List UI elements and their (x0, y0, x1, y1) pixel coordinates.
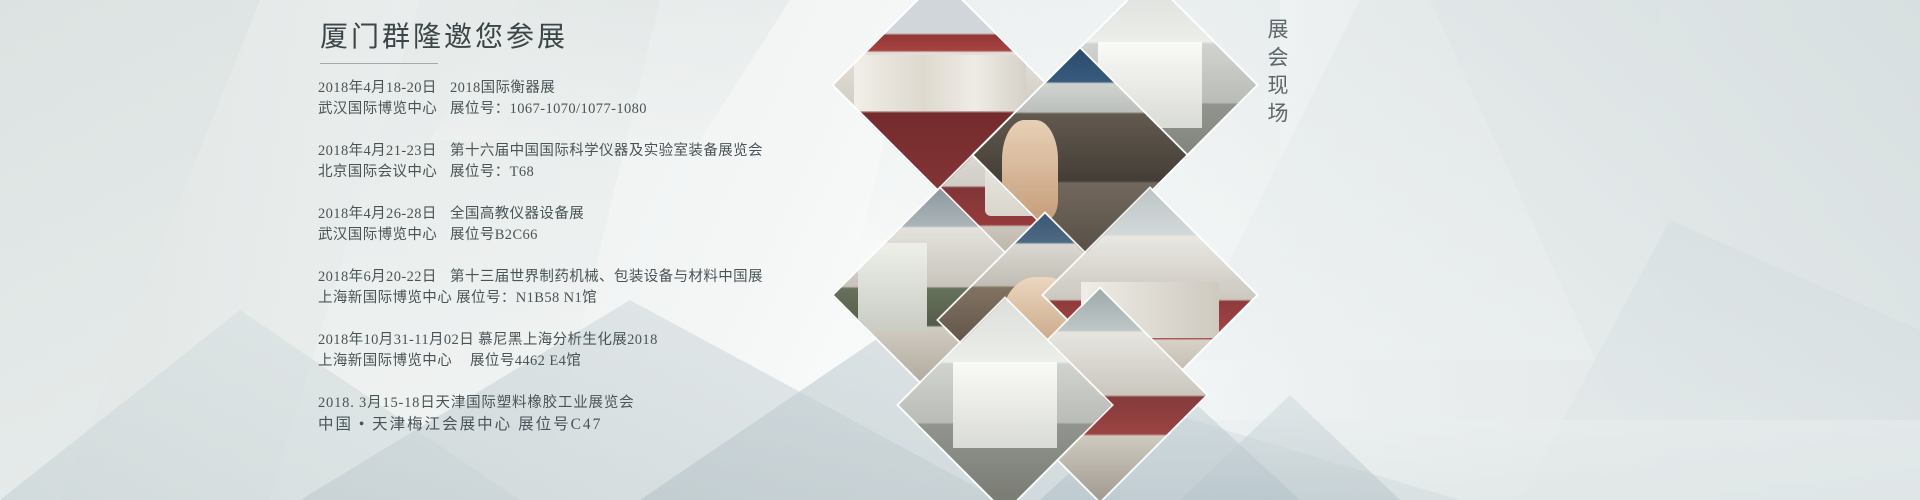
exhibition-name: 慕尼黑上海分析生化展2018 (478, 330, 658, 351)
exhibition-date: 2018年4月18-20日 (318, 78, 446, 99)
exhibition-name: 第十六届中国国际科学仪器及实验室装备展览会 (450, 141, 763, 162)
exhibition-booth: 展位号C47 (518, 414, 602, 435)
exhibition-date: 2018年10月31-11月02日 (318, 330, 474, 351)
exhibition-name: 第十三届世界制药机械、包装设备与材料中国展 (450, 267, 763, 288)
exhibition-date: 2018年4月21-23日 (318, 141, 446, 162)
exhibition-venue: 北京国际会议中心 (318, 162, 446, 183)
exhibition-venue: 武汉国际博览中心 (318, 225, 446, 246)
exhibition-booth: 展位号4462 E4馆 (470, 351, 581, 372)
exhibition-booth: 展位号B2C66 (450, 225, 538, 246)
exhibition-date: 2018. 3月15-18日天津国际塑料橡胶工业展览会 (318, 395, 634, 411)
exhibition-name: 2018国际衡器展 (450, 78, 555, 99)
title-underline (320, 63, 438, 64)
exhibition-name: 全国高教仪器设备展 (450, 204, 584, 225)
exhibition-booth: 展位号：1067-1070/1077-1080 (450, 99, 647, 120)
exhibition-venue: 武汉国际博览中心 (318, 99, 446, 120)
photo-collage (840, 0, 1220, 420)
exhibition-date: 2018年6月20-22日 (318, 267, 446, 288)
exhibition-date: 2018年4月26-28日 (318, 204, 446, 225)
exhibition-booth: 展位号：N1B58 N1馆 (456, 288, 597, 309)
exhibition-venue: 中国 • 天津梅江会展中心 (318, 414, 512, 435)
exhibition-booth: 展位号：T68 (450, 162, 534, 183)
vertical-caption: 展会现场 (1262, 18, 1292, 130)
exhibition-venue: 上海新国际博览中心 (318, 288, 452, 309)
exhibition-venue: 上海新国际博览中心 (318, 351, 466, 372)
promo-banner: 厦门群隆邀您参展 2018年4月18-20日 2018国际衡器展 武汉国际博览中… (0, 0, 1920, 500)
